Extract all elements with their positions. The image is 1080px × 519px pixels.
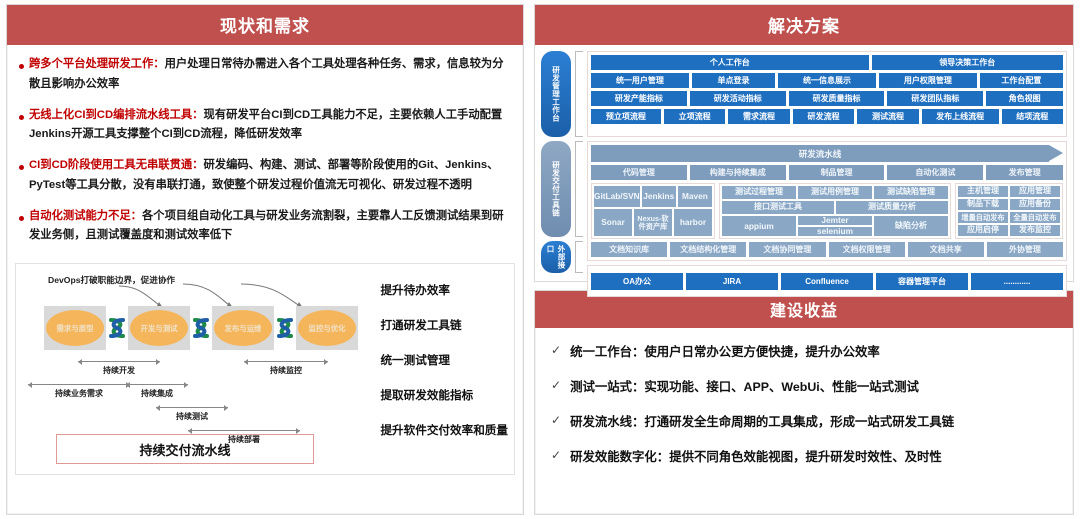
workbench-row-2: 统一用户管理 单点登录 统一信息展示 用户权限管理 工作台配置	[591, 73, 1063, 88]
benefit-label: 统一测试管理	[380, 352, 508, 368]
span-continuous-monitor: 持续监控	[244, 358, 328, 376]
tool-app-startstop[interactable]: 应用启停	[958, 225, 1008, 236]
tool-release-monitor[interactable]: 发布监控	[1010, 225, 1060, 236]
benefit-body: 打通研发全生命周期的工具集成，形成一站式研发工具链	[644, 415, 954, 429]
list-item: 跨多个平台处理研发工作：用户处理日常待办需进入各个工具处理各种任务、需求，信息较…	[19, 55, 511, 95]
workbench-top-row: 个人工作台 领导决策工作台	[591, 55, 1063, 70]
span-label: 持续测试	[156, 411, 228, 422]
benefit-lead: 测试一站式：	[570, 380, 644, 394]
span-continuous-biz: 持续业务需求	[28, 381, 130, 399]
tool-full-release[interactable]: 全量自动发布	[1010, 212, 1060, 223]
cell-team-metric[interactable]: 研发团队指标	[887, 91, 983, 106]
cell-code-mgmt[interactable]: 代码管理	[591, 165, 687, 180]
infinity-icon	[274, 314, 296, 342]
check-icon: ✓	[551, 449, 561, 461]
tool-selenium[interactable]: selenium	[798, 227, 872, 236]
tool-api-test[interactable]: 接口测试工具	[722, 201, 834, 214]
benefit-body: 使用户日常办公更方便快捷，提升办公效率	[644, 345, 879, 359]
benefit-label: 提取研发效能指标	[380, 387, 508, 403]
devops-lifecycle-diagram: DevOps打破职能边界，促进协作 需求与原型	[15, 263, 515, 475]
stage-label: 监控与优化	[298, 310, 356, 346]
solution-panel-title: 解决方案	[535, 5, 1073, 45]
span-continuous-dev: 持续开发	[78, 358, 160, 376]
list-item: 自动化测试能力不足：各个项目组自动化工具与研发业务流割裂，主要靠人工反馈测试结果…	[19, 207, 511, 247]
tool-group-testing: 测试过程管理 测试用例管理 测试缺陷管理 接口测试工具 测试质量分析	[719, 183, 951, 239]
cell-unified-user-mgmt[interactable]: 统一用户管理	[591, 73, 689, 88]
cell-release-mgmt[interactable]: 发布管理	[986, 165, 1063, 180]
tool-nexus[interactable]: Nexus-软件资产库	[634, 209, 672, 236]
list-item: ✓ 研发效能数字化：提供不同角色效能视图，提升研发时效性、及时性	[551, 447, 1059, 465]
tool-test-process-mgmt[interactable]: 测试过程管理	[722, 186, 796, 199]
check-icon: ✓	[551, 344, 561, 356]
bracket-icon	[575, 51, 583, 137]
requirements-list: 跨多个平台处理研发工作：用户处理日常待办需进入各个工具处理各种任务、需求，信息较…	[7, 45, 523, 261]
cell-workbench-config[interactable]: 工作台配置	[980, 73, 1063, 88]
cell-dev-flow[interactable]: 研发流程	[793, 109, 854, 124]
stage-box: 监控与优化	[296, 306, 358, 350]
architecture-diagram: 研发管理工作台 研发交付工具链 外部接口 个人工作台	[535, 45, 1073, 281]
workbench-group: 个人工作台 领导决策工作台 统一用户管理 单点登录 统一信息展示 用户权限管理 …	[587, 51, 1067, 137]
tool-appium[interactable]: appium	[722, 216, 796, 236]
span-label: 持续监控	[244, 365, 328, 376]
cell-more[interactable]: ............	[971, 273, 1063, 290]
list-item: ✓ 测试一站式：实现功能、接口、APP、WebUi、性能一站式测试	[551, 377, 1059, 395]
slide-root: 现状和需求 跨多个平台处理研发工作：用户处理日常待办需进入各个工具处理各种任务、…	[0, 0, 1080, 519]
cell-capacity-metric[interactable]: 研发产能指标	[591, 91, 687, 106]
cell-requirement-flow[interactable]: 需求流程	[728, 109, 789, 124]
infinity-icon	[106, 314, 128, 342]
cell-leader-workbench[interactable]: 领导决策工作台	[872, 55, 1063, 70]
span-continuous-test: 持续测试	[156, 404, 228, 422]
tool-defect-analysis[interactable]: 缺陷分析	[874, 216, 948, 236]
stage-label: 发布与运维	[214, 310, 272, 346]
bullet-lead: CI到CD阶段使用工具无串联贯通：	[29, 159, 203, 171]
tool-test-defect-mgmt[interactable]: 测试缺陷管理	[874, 186, 948, 199]
tool-group-ops: 主机管理 应用管理 制品下载 应用备份 增量自动发布	[955, 183, 1063, 239]
benefit-body: 提供不同角色效能视图，提升研发时效性、及时性	[669, 450, 942, 464]
benefit-body: 实现功能、接口、APP、WebUi、性能一站式测试	[644, 380, 918, 394]
stage-box: 发布与运维	[212, 306, 274, 350]
external-row: OA办公 JIRA Confluence 容器管理平台 ............	[591, 273, 1063, 290]
cell-doc-structured[interactable]: 文档结构化管理	[670, 242, 746, 257]
solution-panel: 解决方案 研发管理工作台 研发交付工具链 外部接口	[534, 4, 1074, 282]
tool-gitlab-svn[interactable]: GitLab/SVN	[594, 186, 640, 207]
tool-artifact-download[interactable]: 制品下载	[958, 199, 1008, 210]
workbench-row-4: 预立项流程 立项流程 需求流程 研发流程 测试流程 发布上线流程 结项流程	[591, 109, 1063, 124]
diagram-benefits-list: 提升待办效率 打通研发工具链 统一测试管理 提取研发效能指标 提升软件交付效率和…	[380, 282, 508, 438]
tool-group-scm: GitLab/SVN Jenkins Maven Sonar Nexus-软件资…	[591, 183, 715, 239]
docs-row: 文档知识库 文档结构化管理 文档协同管理 文档权限管理 文档共享 外协管理	[591, 242, 1063, 257]
benefit-lead: 统一工作台：	[570, 345, 644, 359]
cell-release-flow[interactable]: 发布上线流程	[922, 109, 999, 124]
cell-auto-test[interactable]: 自动化测试	[887, 165, 983, 180]
bullet-dot-icon	[19, 165, 24, 170]
benefit-label: 提升待办效率	[380, 282, 508, 298]
side-label-workbench: 研发管理工作台	[541, 51, 571, 137]
tool-harbor[interactable]: harbor	[674, 209, 712, 236]
left-panel-title: 现状和需求	[7, 5, 523, 45]
tool-app-mgmt[interactable]: 应用管理	[1010, 186, 1060, 197]
cell-unified-info[interactable]: 统一信息展示	[778, 73, 876, 88]
cell-sso[interactable]: 单点登录	[692, 73, 775, 88]
benefit-lead: 研发效能数字化：	[570, 450, 669, 464]
lifecycle-stages: 需求与原型 开发与测试	[44, 306, 358, 350]
span-continuous-integration: 持续集成	[126, 381, 188, 399]
cell-jira[interactable]: JIRA	[686, 273, 778, 290]
cell-doc-share[interactable]: 文档共享	[908, 242, 984, 257]
left-column: 现状和需求 跨多个平台处理研发工作：用户处理日常待办需进入各个工具处理各种任务、…	[6, 4, 524, 515]
pipeline-banner: 研发流水线	[591, 145, 1049, 162]
cell-container-platform[interactable]: 容器管理平台	[876, 273, 968, 290]
cell-project-flow[interactable]: 立项流程	[664, 109, 725, 124]
tool-area: GitLab/SVN Jenkins Maven Sonar Nexus-软件资…	[591, 183, 1063, 239]
toolchain-group: 研发流水线 代码管理 构建与持续集成 制品管理 自动化测试 发布管理	[587, 141, 1067, 261]
side-label-toolchain: 研发交付工具链	[541, 141, 571, 237]
benefits-panel: 建设收益 ✓ 统一工作台：使用户日常办公更方便快捷，提升办公效率 ✓ 测试一站式…	[534, 290, 1074, 515]
stage-label: 开发与测试	[130, 310, 188, 346]
bracket-icon	[575, 141, 583, 237]
benefits-list: ✓ 统一工作台：使用户日常办公更方便快捷，提升办公效率 ✓ 测试一站式：实现功能…	[535, 328, 1073, 475]
right-column: 解决方案 研发管理工作台 研发交付工具链 外部接口	[534, 4, 1074, 515]
tool-host-mgmt[interactable]: 主机管理	[958, 186, 1008, 197]
bullet-dot-icon	[19, 216, 24, 221]
tool-app-backup[interactable]: 应用备份	[1010, 199, 1060, 210]
cell-artifact-mgmt[interactable]: 制品管理	[789, 165, 885, 180]
tool-incremental-release[interactable]: 增量自动发布	[958, 212, 1008, 223]
tool-test-case-mgmt[interactable]: 测试用例管理	[798, 186, 872, 199]
tool-jenkins[interactable]: Jenkins	[642, 186, 676, 207]
bullet-lead: 自动化测试能力不足：	[29, 210, 142, 222]
external-group: OA办公 JIRA Confluence 容器管理平台 ............	[587, 265, 1067, 297]
benefit-label: 打通研发工具链	[380, 317, 508, 333]
cell-pre-project-flow[interactable]: 预立项流程	[591, 109, 661, 124]
tool-test-quality-analysis[interactable]: 测试质量分析	[836, 201, 948, 214]
bullet-lead: 跨多个平台处理研发工作：	[29, 58, 165, 70]
cell-test-flow[interactable]: 测试流程	[857, 109, 918, 124]
cell-outsourcing-mgmt[interactable]: 外协管理	[987, 242, 1063, 257]
cell-doc-kb[interactable]: 文档知识库	[591, 242, 667, 257]
cell-confluence[interactable]: Confluence	[781, 273, 873, 290]
check-icon: ✓	[551, 414, 561, 426]
current-state-panel: 现状和需求 跨多个平台处理研发工作：用户处理日常待办需进入各个工具处理各种任务、…	[6, 4, 524, 515]
tool-jmeter[interactable]: Jemter	[798, 216, 872, 225]
pipeline-callout: 持续交付流水线	[56, 434, 314, 464]
cell-build-ci[interactable]: 构建与持续集成	[690, 165, 786, 180]
bracket-icon	[575, 241, 583, 273]
cell-activity-metric[interactable]: 研发活动指标	[690, 91, 786, 106]
cell-user-permission[interactable]: 用户权限管理	[879, 73, 977, 88]
cell-close-flow[interactable]: 结项流程	[1002, 109, 1063, 124]
tool-maven[interactable]: Maven	[678, 186, 712, 207]
bullet-dot-icon	[19, 115, 24, 120]
benefit-lead: 研发流水线：	[570, 415, 644, 429]
list-item: 无线上化CI到CD编排流水线工具：现有研发平台CI到CD工具能力不足，主要依赖人…	[19, 106, 511, 146]
cell-personal-workbench[interactable]: 个人工作台	[591, 55, 869, 70]
bullet-dot-icon	[19, 64, 24, 69]
pipeline-stage-row: 代码管理 构建与持续集成 制品管理 自动化测试 发布管理	[591, 165, 1063, 180]
list-item: CI到CD阶段使用工具无串联贯通：研发编码、构建、测试、部署等阶段使用的Git、…	[19, 156, 511, 196]
stage-box: 需求与原型	[44, 306, 106, 350]
span-label: 持续集成	[126, 388, 188, 399]
bullet-lead: 无线上化CI到CD编排流水线工具：	[29, 109, 203, 121]
benefit-label: 提升软件交付效率和质量	[380, 422, 508, 438]
bracket-group	[575, 51, 583, 273]
span-label: 持续开发	[78, 365, 160, 376]
workbench-row-3: 研发产能指标 研发活动指标 研发质量指标 研发团队指标 角色视图	[591, 91, 1063, 106]
tool-sonar[interactable]: Sonar	[594, 209, 632, 236]
span-label: 持续业务需求	[28, 388, 130, 399]
stage-box: 开发与测试	[128, 306, 190, 350]
side-label-external: 外部接口	[541, 241, 571, 273]
cell-quality-metric[interactable]: 研发质量指标	[789, 91, 885, 106]
cell-doc-permission[interactable]: 文档权限管理	[829, 242, 905, 257]
cell-oa[interactable]: OA办公	[591, 273, 683, 290]
cell-role-view[interactable]: 角色视图	[986, 91, 1063, 106]
list-item: ✓ 研发流水线：打通研发全生命周期的工具集成，形成一站式研发工具链	[551, 412, 1059, 430]
architecture-side-labels: 研发管理工作台 研发交付工具链 外部接口	[541, 51, 571, 273]
cell-doc-collab[interactable]: 文档协同管理	[749, 242, 825, 257]
infinity-icon	[190, 314, 212, 342]
check-icon: ✓	[551, 379, 561, 391]
stage-label: 需求与原型	[46, 310, 104, 346]
list-item: ✓ 统一工作台：使用户日常办公更方便快捷，提升办公效率	[551, 342, 1059, 360]
